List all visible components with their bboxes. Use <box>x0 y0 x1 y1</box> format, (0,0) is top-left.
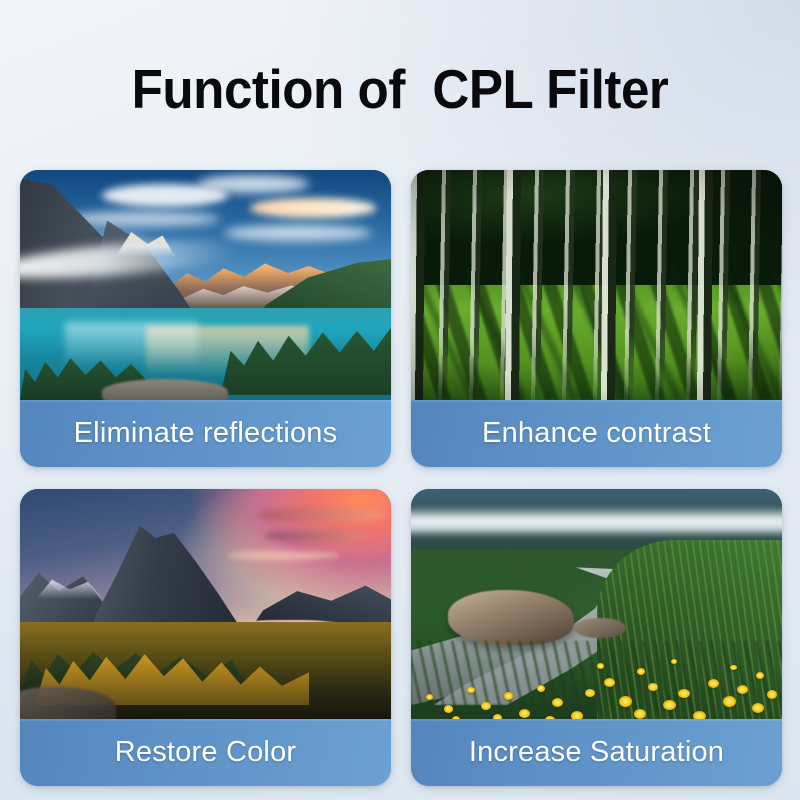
shore-rocks <box>102 379 228 400</box>
flower-icon <box>444 705 453 712</box>
fog-band <box>411 507 782 537</box>
flower-icon <box>552 698 563 707</box>
vignette <box>411 170 782 400</box>
flower-icon <box>481 702 491 710</box>
flower-icon <box>723 696 736 707</box>
flower-icon <box>585 689 595 697</box>
flower-icon <box>708 679 719 688</box>
flower-icon <box>752 703 764 713</box>
card-restore-color[interactable]: Restore Color <box>20 489 391 786</box>
flower-icon <box>767 690 777 698</box>
flower-icon <box>648 683 658 691</box>
card-enhance-contrast[interactable]: Enhance contrast <box>411 170 782 467</box>
cloud-shape <box>198 175 309 193</box>
card-caption: Increase Saturation <box>411 719 782 786</box>
flower-icon <box>619 696 632 707</box>
flower-icon <box>693 711 706 719</box>
card-caption: Eliminate reflections <box>20 400 391 467</box>
yellow-flowers <box>411 632 782 719</box>
lake-reflection-cool <box>65 322 199 368</box>
cpl-filter-infographic: Function of CPL Filter <box>0 0 800 800</box>
flower-icon <box>678 689 690 699</box>
flower-icon <box>537 685 545 692</box>
flower-icon <box>604 678 615 687</box>
flower-icon <box>467 687 475 694</box>
flower-icon <box>671 659 677 664</box>
cloud-shape <box>250 198 376 219</box>
page-title: Function of CPL Filter <box>28 58 772 120</box>
cloud-shape <box>265 530 369 542</box>
photo-stream-flowers <box>411 489 782 719</box>
flower-icon <box>663 700 676 711</box>
flower-icon <box>730 665 737 671</box>
card-increase-saturation[interactable]: Increase Saturation <box>411 489 782 786</box>
flower-icon <box>637 668 645 675</box>
flower-icon <box>634 709 646 719</box>
flower-icon <box>737 685 748 694</box>
flower-icon <box>571 711 583 719</box>
flower-icon <box>597 663 604 669</box>
feature-card-grid: Eliminate reflections Enhance contrast <box>20 170 782 786</box>
card-eliminate-reflections[interactable]: Eliminate reflections <box>20 170 391 467</box>
flower-icon <box>519 709 530 718</box>
photo-mountain-lake <box>20 170 391 400</box>
flower-icon <box>756 672 764 679</box>
photo-sunset-lake <box>20 489 391 719</box>
flower-icon <box>426 694 433 700</box>
card-caption: Enhance contrast <box>411 400 782 467</box>
photo-sunlit-forest <box>411 170 782 400</box>
card-caption: Restore Color <box>20 719 391 786</box>
flower-icon <box>504 692 513 699</box>
